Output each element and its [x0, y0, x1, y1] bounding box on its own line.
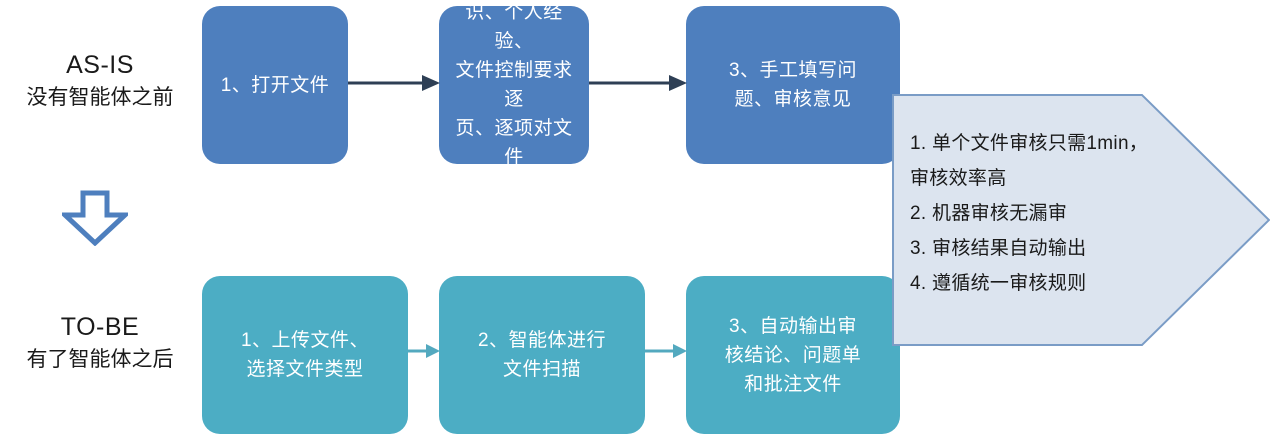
- process-box-label: 1、上传文件、 选择文件类型: [241, 326, 369, 384]
- benefits-list: 1. 单个文件审核只需1min， 审核效率高 2. 机器审核无漏审 3. 审核结…: [910, 126, 1160, 301]
- connector-arrow-to-be-2: [645, 342, 687, 360]
- process-box-label: 2、智能体进行 文件扫描: [478, 326, 606, 384]
- down-arrow-icon: [62, 190, 128, 246]
- row-title-to-be: TO-BE: [0, 310, 200, 344]
- process-box-label: 3、自动输出审 核结论、问题单 和批注文件: [725, 312, 862, 399]
- connector-arrow-as-is-2: [589, 74, 687, 92]
- row-subtitle-to-be: 有了智能体之后: [0, 344, 200, 376]
- process-box-as-is-1[interactable]: 1、打开文件: [202, 6, 348, 164]
- process-box-to-be-3[interactable]: 3、自动输出审 核结论、问题单 和批注文件: [686, 276, 900, 434]
- benefit-line-2: 2. 机器审核无漏审: [910, 196, 1160, 231]
- process-box-as-is-3[interactable]: 3、手工填写问 题、审核意见: [686, 6, 900, 164]
- process-box-to-be-1[interactable]: 1、上传文件、 选择文件类型: [202, 276, 408, 434]
- diagram-canvas: AS-IS 没有智能体之前 TO-BE 有了智能体之后 1、打开文件 2、基于专…: [0, 0, 1270, 431]
- benefit-line-3: 3. 审核结果自动输出: [910, 231, 1160, 266]
- benefits-callout[interactable]: 1. 单个文件审核只需1min， 审核效率高 2. 机器审核无漏审 3. 审核结…: [892, 94, 1270, 346]
- connector-arrow-as-is-1: [348, 74, 440, 92]
- benefit-line-1: 1. 单个文件审核只需1min，: [910, 126, 1160, 161]
- connector-arrow-to-be-1: [408, 342, 440, 360]
- process-box-label: 1、打开文件: [221, 71, 330, 100]
- process-box-to-be-2[interactable]: 2、智能体进行 文件扫描: [439, 276, 645, 434]
- row-label-to-be: TO-BE 有了智能体之后: [0, 310, 200, 376]
- process-box-label: 2、基于专业知 识、个人经验、 文件控制要求逐 页、逐项对文件 进行审查: [449, 0, 579, 201]
- row-subtitle-as-is: 没有智能体之前: [0, 82, 200, 114]
- row-label-as-is: AS-IS 没有智能体之前: [0, 48, 200, 114]
- row-title-as-is: AS-IS: [0, 48, 200, 82]
- process-box-as-is-2[interactable]: 2、基于专业知 识、个人经验、 文件控制要求逐 页、逐项对文件 进行审查: [439, 6, 589, 164]
- benefit-line-4: 4. 遵循统一审核规则: [910, 266, 1160, 301]
- benefit-line-1-cont: 审核效率高: [910, 161, 1160, 196]
- process-box-label: 3、手工填写问 题、审核意见: [729, 56, 857, 114]
